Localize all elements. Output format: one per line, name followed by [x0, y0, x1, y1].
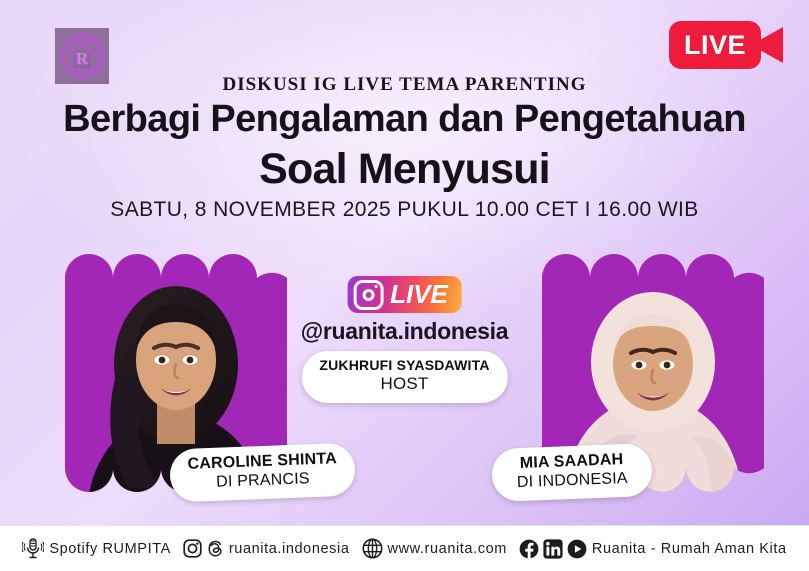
- live-badge-label: LIVE: [669, 21, 761, 69]
- live-badge: LIVE: [669, 21, 787, 69]
- footer-social-icons-ig: [183, 539, 224, 558]
- right-speaker-badge: MIA SAADAH DI INDONESIA: [491, 443, 653, 502]
- instagram-icon: [183, 539, 202, 558]
- footer-website-label: www.ruanita.com: [388, 541, 507, 557]
- footer-spotify-label: Spotify RUMPITA: [49, 541, 171, 557]
- left-speaker-badge: CAROLINE SHINTA DI PRANCIS: [169, 442, 356, 502]
- linkedin-icon: [543, 539, 563, 559]
- facebook-icon: [519, 539, 539, 559]
- poster-headline-line2: Soal Menyusui: [0, 145, 809, 194]
- footer-brand-label: Ruanita - Rumah Aman Kita: [592, 541, 787, 557]
- footer-brand: Ruanita - Rumah Aman Kita: [513, 539, 793, 559]
- poster-dateline: SABTU, 8 NOVEMBER 2025 PUKUL 10.00 CET I…: [0, 198, 809, 222]
- footer-spotify: Spotify RUMPITA: [16, 537, 177, 561]
- threads-icon: [206, 539, 224, 558]
- host-role: HOST: [319, 374, 489, 394]
- footer-instagram-label: ruanita.indonesia: [229, 541, 350, 557]
- instagram-live-label: LIVE: [390, 279, 448, 310]
- instagram-icon: [353, 280, 383, 310]
- svg-text:R: R: [76, 49, 89, 68]
- footer-social-icons-brand: [519, 539, 587, 559]
- event-poster: R LIVE DISKUSI IG LIVE TEMA PARENTING Be…: [0, 0, 809, 571]
- instagram-handle: @ruanita.indonesia: [0, 318, 809, 345]
- host-name-badge: ZUKHRUFI SYASDAWITA HOST: [301, 351, 507, 403]
- youtube-icon: [567, 539, 587, 559]
- host-name: ZUKHRUFI SYASDAWITA: [319, 358, 489, 374]
- poster-kicker: DISKUSI IG LIVE TEMA PARENTING: [0, 74, 809, 96]
- footer-website: www.ruanita.com: [356, 538, 513, 559]
- right-speaker-location: DI INDONESIA: [510, 469, 635, 493]
- ruanita-logo-mark: R: [59, 33, 105, 79]
- poster-headline-line1: Berbagi Pengalaman dan Pengetahuan: [0, 98, 809, 141]
- footer-bar: Spotify RUMPITA ruanita.indonesia: [0, 525, 809, 571]
- globe-icon: [362, 538, 383, 559]
- microphone-icon: [22, 537, 44, 561]
- footer-instagram: ruanita.indonesia: [177, 539, 356, 558]
- instagram-live-badge: LIVE: [347, 276, 462, 313]
